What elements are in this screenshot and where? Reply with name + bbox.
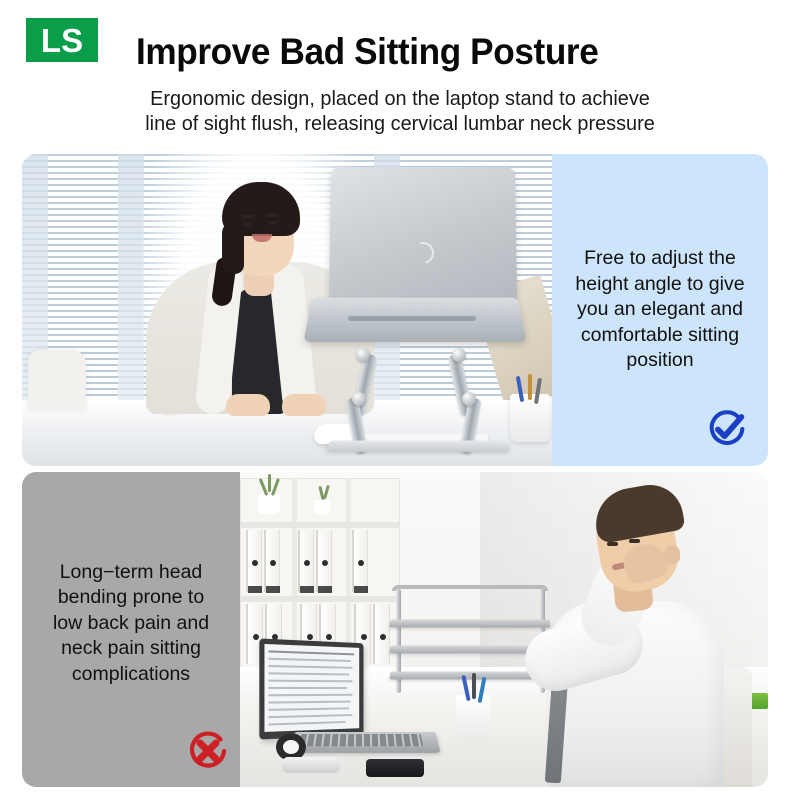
mobile-phone [366, 759, 424, 777]
binder [264, 530, 280, 592]
binder [246, 530, 262, 592]
hand-left [226, 394, 270, 416]
pencil [528, 374, 532, 400]
pen-holder [510, 394, 550, 442]
good-text-line-1: Free to adjust the [560, 246, 760, 272]
good-text-line-5: position [560, 348, 760, 374]
bad-posture-section: Long−term head bending prone to low back… [22, 472, 768, 787]
stand-hinge-upper-right [452, 348, 466, 362]
stand-hinge-mid-left [352, 392, 366, 406]
bad-text-line-5: complications [26, 662, 236, 688]
stand-tray-slot [348, 316, 476, 321]
binder [298, 530, 314, 592]
bad-posture-text: Long−term head bending prone to low back… [22, 560, 240, 688]
office-chair [28, 350, 86, 410]
check-circle-icon [704, 406, 750, 452]
plant-pot [258, 494, 280, 514]
stand-hinge-upper-left [356, 348, 370, 362]
person-bad-posture [502, 477, 752, 787]
page-subtitle: Ergonomic design, placed on the laptop s… [12, 86, 788, 136]
laptop-keyboard [299, 734, 424, 746]
page-title: Improve Bad Sitting Posture [136, 33, 598, 72]
bad-posture-callout: Long−term head bending prone to low back… [22, 472, 240, 787]
bad-text-line-3: low back pain and [26, 611, 236, 637]
eye-right [268, 221, 277, 225]
eye-left [607, 542, 618, 546]
bad-text-line-2: bending prone to [26, 585, 236, 611]
bad-text-line-1: Long−term head [26, 560, 236, 586]
good-text-line-2: height angle to give [560, 272, 760, 298]
good-posture-text: Free to adjust the height angle to give … [552, 246, 768, 374]
subtitle-line-2: line of sight flush, releasing cervical … [12, 111, 788, 136]
pen-holder [456, 695, 490, 743]
eye-left [243, 222, 252, 226]
spreadsheet-display [264, 644, 359, 732]
laptop-screen [259, 638, 363, 739]
binder [352, 530, 368, 592]
stand-base-plate [326, 440, 510, 451]
eyebrow-right [266, 214, 278, 217]
laptop-logo-icon [408, 238, 438, 268]
shelf-board [240, 522, 400, 528]
eyebrow-left [242, 215, 254, 218]
brand-logo-text: LS [41, 24, 83, 57]
plant-leaf [268, 474, 271, 492]
header: LS Improve Bad Sitting Posture Ergonomic… [0, 0, 800, 140]
subtitle-line-1: Ergonomic design, placed on the laptop s… [12, 86, 788, 111]
cross-circle-icon [184, 727, 232, 775]
shelf-board [240, 596, 400, 602]
good-posture-callout: Free to adjust the height angle to give … [552, 154, 768, 466]
laptop-stand-assembly [302, 166, 528, 456]
brand-logo: LS [26, 18, 98, 62]
stapler [282, 757, 340, 773]
bad-text-line-4: neck pain sitting [26, 636, 236, 662]
stand-hinge-mid-right [462, 392, 476, 406]
laptop-lid [329, 167, 517, 306]
good-text-line-4: comfortable sitting [560, 323, 760, 349]
good-text-line-3: you an elegant and [560, 297, 760, 323]
good-posture-photo [22, 154, 552, 466]
plant-pot [314, 500, 330, 515]
bad-posture-photo [240, 472, 768, 787]
good-posture-section: Free to adjust the height angle to give … [22, 154, 768, 466]
pen [472, 673, 476, 699]
hair-top [222, 182, 300, 236]
product-infographic: LS Improve Bad Sitting Posture Ergonomic… [0, 0, 800, 800]
eye-right [629, 539, 640, 543]
binder [316, 530, 332, 592]
